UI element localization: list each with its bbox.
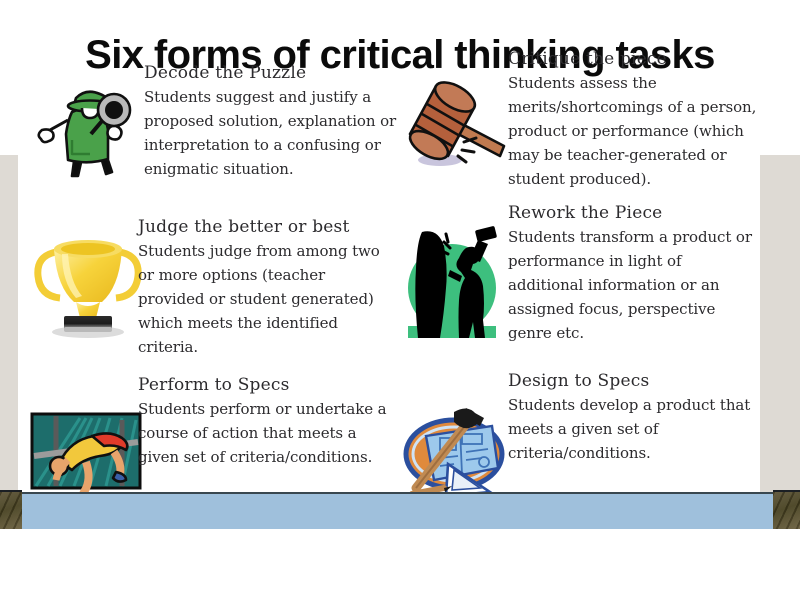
task-body: Students develop a product that meets a … [508, 393, 760, 465]
task-body: Students judge from among two or more op… [138, 239, 393, 359]
task-card-judge[interactable]: Judge the better or best Students judge … [28, 222, 398, 376]
slide-canvas: Six forms of critical thinking tasks [0, 0, 800, 600]
wood-strip-right [773, 490, 800, 529]
task-title: Decode the Puzzle [144, 62, 399, 85]
gavel-icon [392, 64, 512, 184]
task-title: Design to Specs [508, 370, 760, 393]
task-text-perform: Perform to Specs Students perform or und… [138, 374, 393, 469]
sculptor-chisel-icon [392, 218, 512, 338]
task-text-decode: Decode the Puzzle Students suggest and j… [144, 62, 399, 181]
task-body: Students suggest and justify a proposed … [144, 85, 399, 181]
task-card-critique[interactable]: Critique the piece Students assess the m… [390, 62, 760, 216]
task-body: Students perform or undertake a course o… [138, 397, 393, 469]
task-title: Rework the Piece [508, 202, 760, 225]
tasks-grid: Decode the Puzzle Students suggest and j… [20, 62, 780, 524]
task-card-rework[interactable]: Rework the Piece Students transform a pr… [390, 222, 760, 376]
task-title: Judge the better or best [138, 216, 393, 239]
wood-strip-left [0, 490, 22, 529]
task-text-rework: Rework the Piece Students transform a pr… [508, 202, 760, 345]
task-title: Critique the piece [508, 48, 760, 71]
task-body: Students transform a product or performa… [508, 225, 760, 345]
detective-magnifier-icon [28, 68, 148, 188]
blue-overlay-band [18, 492, 773, 529]
task-text-critique: Critique the piece Students assess the m… [508, 48, 760, 191]
task-text-judge: Judge the better or best Students judge … [138, 216, 393, 359]
trophy-icon [28, 224, 148, 344]
task-title: Perform to Specs [138, 374, 393, 397]
task-card-decode[interactable]: Decode the Puzzle Students suggest and j… [28, 62, 398, 216]
task-body: Students assess the merits/shortcomings … [508, 71, 760, 191]
task-text-design: Design to Specs Students develop a produ… [508, 370, 760, 465]
